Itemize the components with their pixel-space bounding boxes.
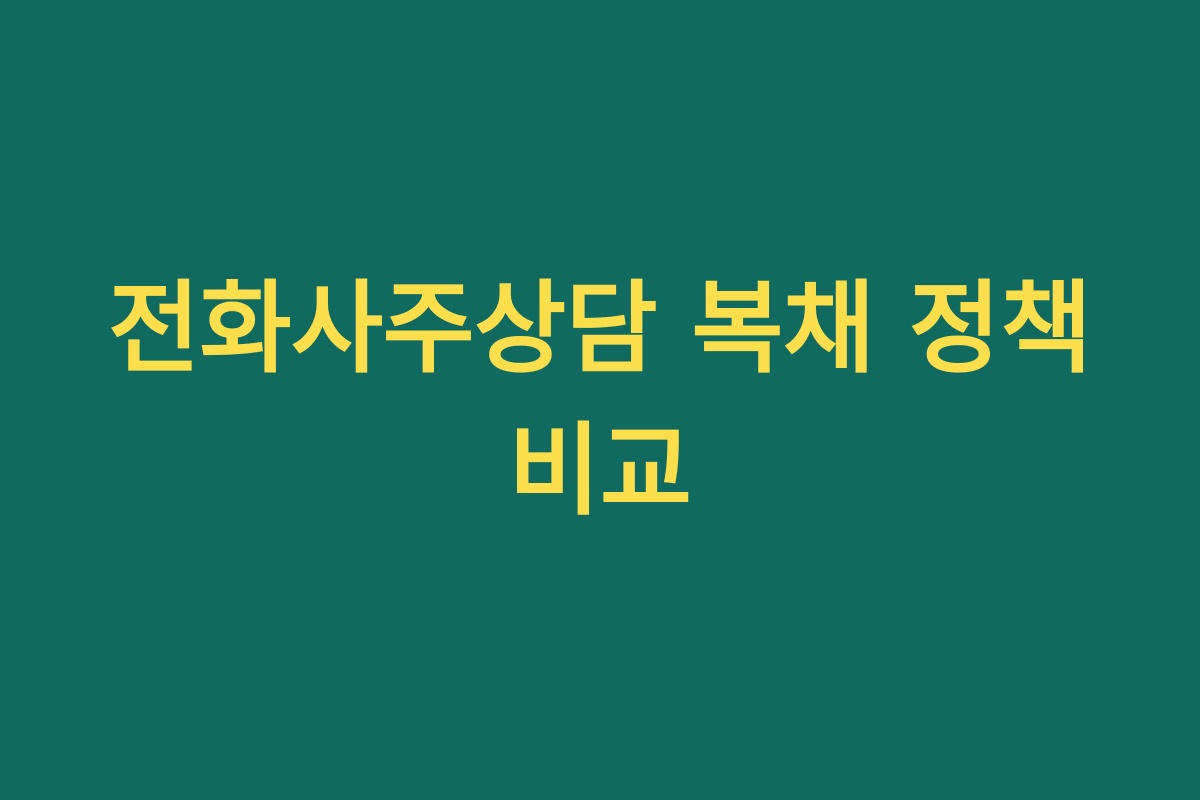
page-title: 전화사주상담 복채 정책 비교 <box>0 258 1200 542</box>
banner-canvas: 전화사주상담 복채 정책 비교 <box>0 0 1200 800</box>
